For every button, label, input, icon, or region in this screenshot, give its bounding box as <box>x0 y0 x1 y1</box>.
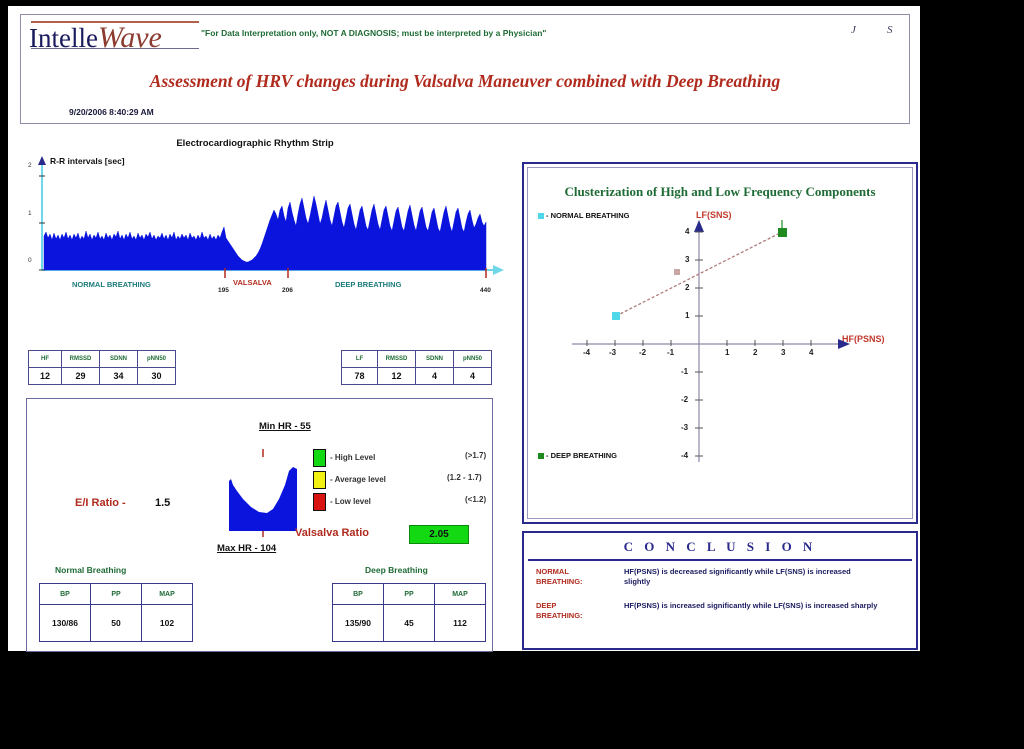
y-tick-label: -1 <box>681 367 688 376</box>
bp-normal-caption: Normal Breathing <box>55 565 126 575</box>
x-tick-label: 1 <box>725 348 729 357</box>
bp-deep-caption: Deep Breathing <box>365 565 428 575</box>
valsalva-ratio-label: Valsalva Ratio <box>295 527 369 539</box>
ecg-marker-440: 440 <box>480 287 491 294</box>
table-row: 135/90 45 112 <box>333 605 486 642</box>
bp-normal-table: BP PP MAP 130/86 50 102 <box>39 583 193 642</box>
level-average-row: - Average level (1.2 - 1.7) <box>313 471 386 489</box>
metrics-table-left: HF RMSSD SDNN pNN50 12 29 34 30 <box>28 350 176 385</box>
conclusion-row2-text: HF(PSNS) is increased significantly whil… <box>624 601 879 611</box>
bp-value: 50 <box>91 605 142 642</box>
table-row: 78 12 4 4 <box>342 368 492 385</box>
ecg-waveform-svg <box>20 152 510 282</box>
metric-value: 4 <box>416 368 454 385</box>
ecg-marker-206: 206 <box>282 287 293 294</box>
x-tick-label: -2 <box>639 348 646 357</box>
metrics-table-right: LF RMSSD SDNN pNN50 78 12 4 4 <box>341 350 492 385</box>
x-tick-label: 3 <box>781 348 785 357</box>
metric-header: RMSSD <box>378 351 416 368</box>
level-average-label: - Average level <box>330 475 386 484</box>
results-panel: E/I Ratio - 1.5 Min HR - 55 Max HR - 104… <box>26 398 493 652</box>
clusterization-panel: Clusterization of High and Low Frequency… <box>522 162 918 524</box>
level-high-range: (>1.7) <box>465 451 486 460</box>
corner-mark-s: S <box>887 24 893 36</box>
bp-value: 135/90 <box>333 605 384 642</box>
report-header: IntelleWave "For Data Interpretation onl… <box>20 14 910 124</box>
metric-value: 34 <box>100 368 138 385</box>
table-row: 130/86 50 102 <box>40 605 193 642</box>
metric-value: 30 <box>138 368 176 385</box>
ecg-phase-label-valsalva: VALSALVA <box>233 278 272 287</box>
y-tick-label: -4 <box>681 451 688 460</box>
bp-header: PP <box>384 584 435 605</box>
table-row: 12 29 34 30 <box>29 368 176 385</box>
level-average-range: (1.2 - 1.7) <box>447 473 482 482</box>
ecg-x-axis-labels: NORMAL BREATHING VALSALVA DEEP BREATHING… <box>20 278 510 298</box>
logo-text-accent: Wave <box>98 21 162 54</box>
table-row: LF RMSSD SDNN pNN50 <box>342 351 492 368</box>
y-tick-label: -3 <box>681 423 688 432</box>
report-page: IntelleWave "For Data Interpretation onl… <box>8 6 920 651</box>
bp-header: MAP <box>435 584 486 605</box>
metric-header: pNN50 <box>138 351 176 368</box>
valsalva-waveform-svg <box>223 445 305 537</box>
metric-header: RMSSD <box>62 351 100 368</box>
level-high-swatch-icon <box>313 449 326 467</box>
metric-value: 29 <box>62 368 100 385</box>
y-tick-label: -2 <box>681 395 688 404</box>
ecg-ytick-mid: 1 <box>28 210 32 217</box>
metric-header: SDNN <box>100 351 138 368</box>
y-tick-label: 2 <box>685 283 689 292</box>
ecg-chart-title: Electrocardiographic Rhythm Strip <box>20 138 490 149</box>
logo-text-primary: Intelle <box>29 23 98 53</box>
metric-value: 78 <box>342 368 378 385</box>
conclusion-row2-label: DEEP BREATHING: <box>536 601 583 621</box>
conclusion-row1-label-line2: BREATHING: <box>536 577 583 586</box>
ecg-ytick-bottom: 0 <box>28 257 32 264</box>
conclusion-divider <box>528 559 912 561</box>
conclusion-row2-label-line1: DEEP <box>536 601 556 610</box>
level-low-row: - Low level (<1.2) <box>313 493 371 511</box>
conclusion-panel: C O N C L U S I O N NORMAL BREATHING: HF… <box>522 531 918 650</box>
x-tick-label: -3 <box>609 348 616 357</box>
metric-header: pNN50 <box>454 351 492 368</box>
x-tick-label: 2 <box>753 348 757 357</box>
max-hr-label: Max HR - 104 <box>217 543 276 554</box>
table-row: HF RMSSD SDNN pNN50 <box>29 351 176 368</box>
bp-value: 102 <box>142 605 193 642</box>
conclusion-row1-label-line1: NORMAL <box>536 567 569 576</box>
level-high-label: - High Level <box>330 453 375 462</box>
ecg-phase-label-normal: NORMAL BREATHING <box>72 280 151 289</box>
metric-value: 4 <box>454 368 492 385</box>
x-tick-label: -4 <box>583 348 590 357</box>
bp-value: 45 <box>384 605 435 642</box>
conclusion-title: C O N C L U S I O N <box>524 539 916 555</box>
bp-header: BP <box>333 584 384 605</box>
corner-mark-j: J <box>851 24 856 36</box>
ecg-rhythm-strip-panel: Electrocardiographic Rhythm Strip R-R in… <box>20 138 510 298</box>
bp-header: MAP <box>142 584 193 605</box>
report-timestamp: 9/20/2006 8:40:29 AM <box>69 107 154 117</box>
metric-header: SDNN <box>416 351 454 368</box>
page-title: Assessment of HRV changes during Valsalv… <box>21 71 909 92</box>
level-low-label: - Low level <box>330 497 371 506</box>
intellewave-logo: IntelleWave <box>29 21 162 55</box>
y-tick-label: 3 <box>685 255 689 264</box>
metric-header: HF <box>29 351 62 368</box>
bp-value: 130/86 <box>40 605 91 642</box>
disclaimer-text: "For Data Interpretation only, NOT A DIA… <box>201 28 761 38</box>
bp-deep-table: BP PP MAP 135/90 45 112 <box>332 583 486 642</box>
table-row: BP PP MAP <box>40 584 193 605</box>
ecg-phase-label-deep: DEEP BREATHING <box>335 280 401 289</box>
x-tick-label: -1 <box>667 348 674 357</box>
bp-value: 112 <box>435 605 486 642</box>
metric-header: LF <box>342 351 378 368</box>
ecg-ytick-top: 2 <box>28 162 32 169</box>
metric-value: 12 <box>29 368 62 385</box>
ecg-marker-195: 195 <box>218 287 229 294</box>
ei-ratio-value: 1.5 <box>155 497 170 509</box>
y-tick-label: 4 <box>685 227 689 236</box>
bp-header: PP <box>91 584 142 605</box>
level-average-swatch-icon <box>313 471 326 489</box>
ei-ratio-label: E/I Ratio - <box>75 497 126 509</box>
conclusion-row1-text: HF(PSNS) is decreased significantly whil… <box>624 567 879 587</box>
metric-value: 12 <box>378 368 416 385</box>
x-tick-label: 4 <box>809 348 813 357</box>
clusterization-svg <box>524 164 916 522</box>
conclusion-row1-label: NORMAL BREATHING: <box>536 567 583 587</box>
valsalva-ratio-value: 2.05 <box>409 525 469 544</box>
y-tick-label: 1 <box>685 311 689 320</box>
min-hr-label: Min HR - 55 <box>259 421 311 432</box>
level-high-row: - High Level (>1.7) <box>313 449 375 467</box>
bp-header: BP <box>40 584 91 605</box>
level-low-swatch-icon <box>313 493 326 511</box>
conclusion-row2-label-line2: BREATHING: <box>536 611 583 620</box>
level-low-range: (<1.2) <box>465 495 486 504</box>
table-row: BP PP MAP <box>333 584 486 605</box>
